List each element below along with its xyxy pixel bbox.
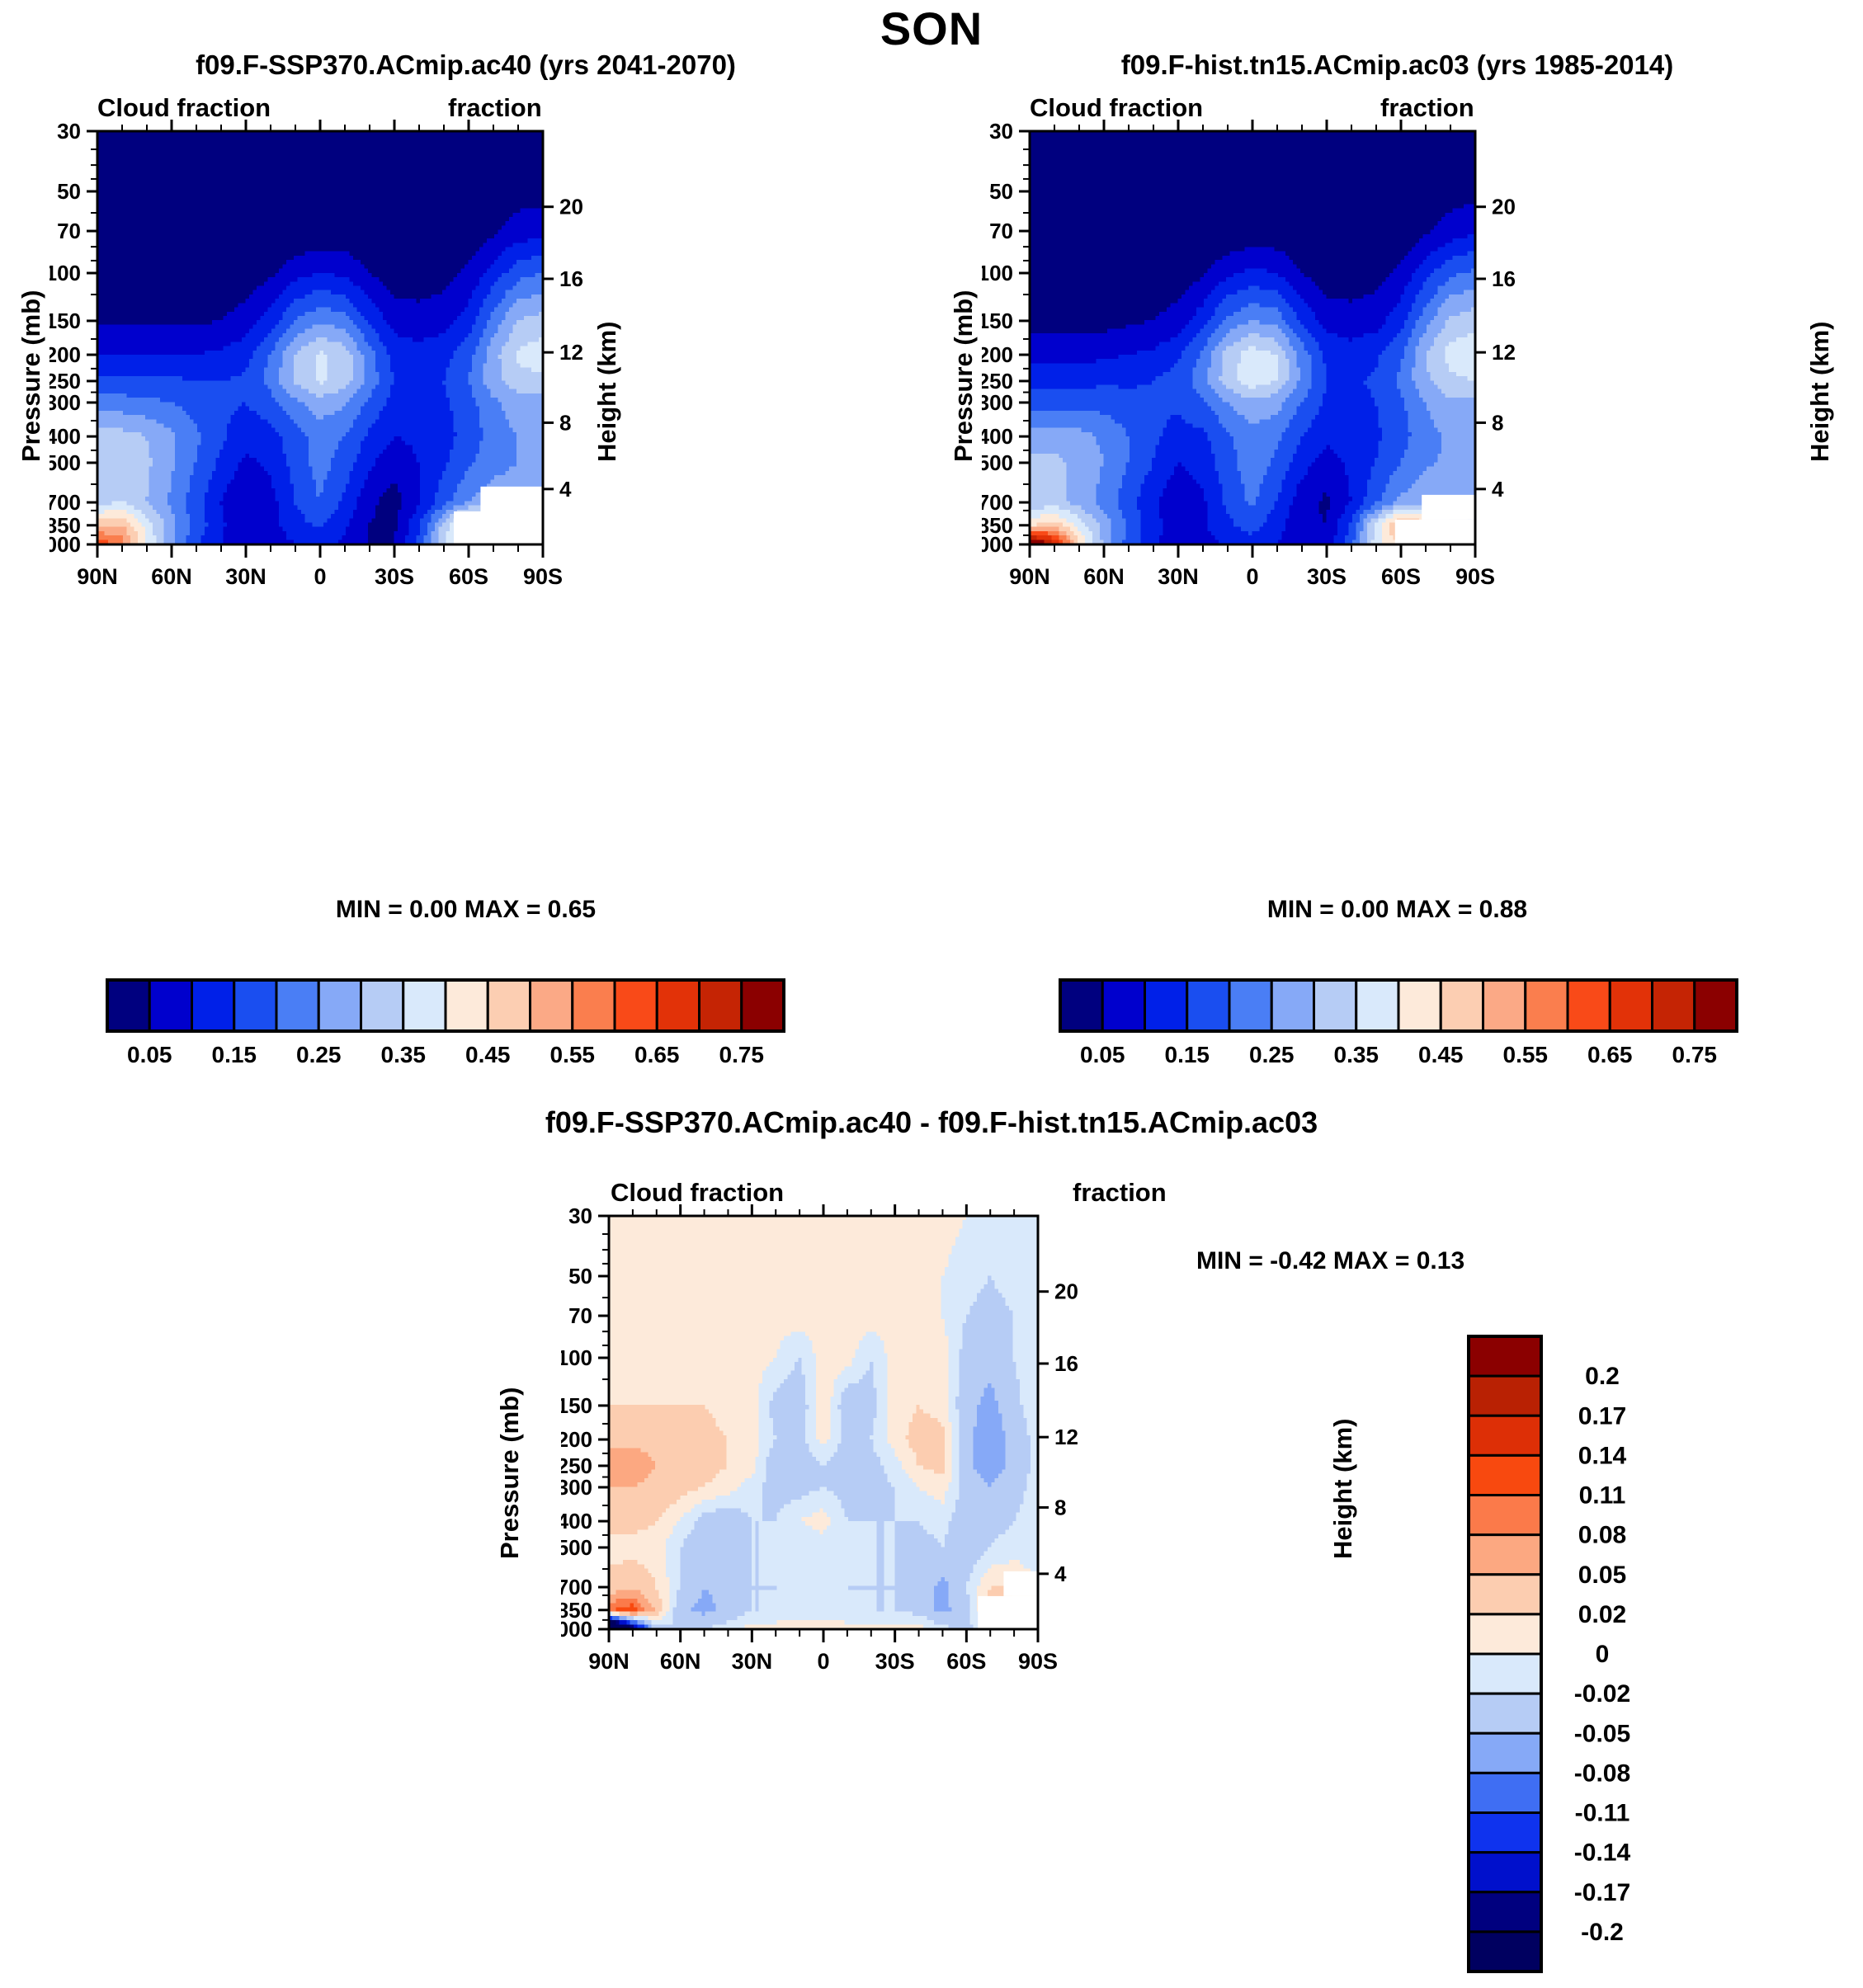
colorbar-cell[interactable] [107,980,149,1031]
colorbar-tick-label: 0.17 [1578,1402,1626,1430]
pressure-tick-label: 400 [561,1509,592,1533]
lat-tick-label: 0 [817,1649,829,1674]
colorbar-tick-label: -0.2 [1581,1919,1624,1946]
panel-left-ylabel: Pressure (mb) [17,290,46,462]
lat-tick-label: 30S [875,1649,915,1674]
panel-diff-title: f09.F-SSP370.ACmip.ac40 - f09.F-hist.tn1… [0,1105,1863,1140]
lat-tick-label: 90S [1455,564,1495,589]
colorbar-cell[interactable] [1187,980,1229,1031]
colorbar-cell[interactable] [1229,980,1271,1031]
panel-diff-plot: 3050701001502002503004005007008501000201… [561,1204,1089,1716]
height-tick-label: 20 [1492,195,1516,219]
pressure-tick-label: 70 [989,219,1013,243]
colorbar-cell[interactable] [1356,980,1398,1031]
lat-tick-label: 60N [660,1649,701,1674]
pressure-tick-label: 30 [989,120,1013,144]
panel-right-rlabel: Height (km) [1805,322,1835,463]
colorbar-cell[interactable] [1469,1614,1541,1654]
colorbar-cell[interactable] [700,980,742,1031]
pressure-tick-label: 100 [982,261,1013,285]
height-tick-label: 16 [559,266,583,291]
colorbar-tick-label: 0.35 [1334,1042,1380,1067]
colorbar-tick-label: 0.11 [1579,1482,1626,1510]
lat-tick-label: 0 [1246,564,1258,589]
colorbar-cell[interactable] [1271,980,1314,1031]
colorbar-tick-label: -0.14 [1574,1840,1631,1867]
colorbar-cell[interactable] [573,980,615,1031]
lat-tick-label: 90S [1018,1649,1058,1674]
panel-left-plot: 3050701001502002503004005007008501000201… [50,120,594,631]
colorbar-cell[interactable] [742,980,784,1031]
panel-diff-subtitle-left: Cloud fraction [611,1178,784,1208]
pressure-tick-label: 30 [57,120,81,144]
colorbar-tick-label: 0.25 [296,1042,342,1067]
panel-left-title: f09.F-SSP370.ACmip.ac40 (yrs 2041-2070) [0,49,931,81]
pressure-tick-label: 100 [50,261,81,285]
colorbar-tick-label: 0.35 [381,1042,427,1067]
pressure-tick-label: 150 [982,309,1013,333]
colorbar-tick-label: -0.17 [1574,1879,1630,1906]
colorbar-cell[interactable] [446,980,488,1031]
pressure-tick-label: 200 [982,342,1013,367]
colorbar-cell[interactable] [1469,1455,1541,1495]
colorbar-cell[interactable] [1469,1535,1541,1575]
height-tick-label: 8 [1492,410,1503,435]
colorbar-tick-label: 0.65 [1587,1042,1633,1067]
height-tick-label: 4 [1054,1562,1067,1586]
colorbar-tick-label: -0.08 [1574,1760,1630,1787]
lat-tick-label: 30N [225,564,266,589]
colorbar-tick-label: 0.75 [1672,1042,1718,1067]
colorbar-cell[interactable] [657,980,699,1031]
colorbar-cell[interactable] [615,980,657,1031]
panel-diff-ylabel: Pressure (mb) [495,1387,525,1559]
lat-tick-label: 90S [523,564,563,589]
height-tick-label: 4 [559,477,572,502]
colorbar-cell[interactable] [1695,980,1737,1031]
panel-left-minmax: MIN = 0.00 MAX = 0.65 [0,896,931,924]
colorbar-tick-label: 0.45 [465,1042,511,1067]
colorbar-cell[interactable] [149,980,191,1031]
lat-tick-label: 60N [151,564,192,589]
colorbar-cell[interactable] [1469,1892,1541,1932]
pressure-tick-label: 1000 [50,532,81,557]
panel-right-subtitle-right: fraction [1380,93,1474,123]
height-tick-label: 16 [1492,266,1516,291]
pressure-tick-label: 500 [50,450,81,475]
panel-right-colorbar[interactable]: 0.050.150.250.350.450.550.650.75 [1052,973,1745,1072]
colorbar-cell[interactable] [1469,1416,1541,1455]
colorbar-cell[interactable] [234,980,276,1031]
colorbar-cell[interactable] [531,980,573,1031]
pressure-tick-label: 70 [568,1303,592,1328]
colorbar-cell[interactable] [1469,1575,1541,1614]
pressure-tick-label: 50 [989,179,1013,204]
lat-tick-label: 30S [1307,564,1347,589]
lat-tick-label: 90N [1009,564,1050,589]
panel-right-ylabel: Pressure (mb) [949,290,979,462]
colorbar-cell[interactable] [1314,980,1356,1031]
panel-left-subtitle-right: fraction [448,93,542,123]
colorbar-tick-label: 0.65 [634,1042,680,1067]
lat-tick-label: 90N [77,564,118,589]
panel-diff-minmax: MIN = -0.42 MAX = 0.13 [1196,1247,1464,1275]
colorbar-cell[interactable] [276,980,318,1031]
colorbar-cell[interactable] [1469,1813,1541,1853]
lat-tick-label: 60S [1381,564,1421,589]
colorbar-tick-label: -0.02 [1574,1680,1630,1708]
colorbar-tick-label: 0.15 [212,1042,257,1067]
pressure-tick-label: 50 [57,179,81,204]
lat-tick-label: 30S [375,564,414,589]
colorbar-cell[interactable] [1102,980,1144,1031]
colorbar-cell[interactable] [1469,1694,1541,1733]
colorbar-cell[interactable] [1398,980,1441,1031]
panel-left-subtitle-left: Cloud fraction [97,93,271,123]
pressure-tick-label: 400 [50,424,81,449]
colorbar-tick-label: 0.2 [1585,1363,1620,1390]
colorbar-tick-label: 0.08 [1578,1522,1626,1549]
pressure-tick-label: 300 [50,390,81,415]
pressure-tick-label: 500 [982,450,1013,475]
pressure-tick-label: 300 [982,390,1013,415]
pressure-tick-label: 150 [50,309,81,333]
pressure-tick-label: 150 [561,1393,592,1418]
height-tick-label: 8 [559,410,571,435]
panel-right-plot: 3050701001502002503004005007008501000201… [982,120,1526,631]
colorbar-cell[interactable] [1610,980,1652,1031]
pressure-tick-label: 1000 [561,1617,592,1642]
panel-diff-subtitle-right: fraction [1073,1178,1167,1208]
pressure-tick-label: 200 [50,342,81,367]
lat-tick-label: 0 [314,564,326,589]
lat-tick-label: 90N [588,1649,630,1674]
colorbar-tick-label: 0.14 [1578,1442,1627,1469]
panel-left-rlabel: Height (km) [592,322,622,463]
panel-diff-colorbar[interactable]: 0.20.170.140.110.080.050.020-0.02-0.05-0… [1460,1328,1807,1988]
pressure-tick-label: 700 [982,490,1013,515]
colorbar-tick-label: -0.05 [1574,1720,1630,1747]
colorbar-cell[interactable] [1060,980,1102,1031]
colorbar-cell[interactable] [1441,980,1483,1031]
height-tick-label: 12 [1492,340,1516,365]
colorbar-tick-label: 0.45 [1418,1042,1464,1067]
colorbar-tick-label: 0 [1596,1641,1610,1668]
pressure-tick-label: 1000 [982,532,1013,557]
colorbar-tick-label: -0.11 [1575,1800,1630,1827]
colorbar-cell[interactable] [488,980,530,1031]
pressure-tick-label: 50 [568,1264,592,1288]
pressure-tick-label: 500 [561,1535,592,1560]
lat-tick-label: 60N [1083,564,1125,589]
colorbar-cell[interactable] [1568,980,1610,1031]
lat-tick-label: 30N [732,1649,773,1674]
height-tick-label: 16 [1054,1351,1078,1376]
colorbar-tick-label: 0.02 [1578,1601,1626,1628]
page-title: SON [0,2,1863,55]
colorbar-cell[interactable] [403,980,446,1031]
colorbar-tick-label: 0.05 [1080,1042,1125,1067]
panel-right-subtitle-left: Cloud fraction [1030,93,1203,123]
panel-right-title: f09.F-hist.tn15.ACmip.ac03 (yrs 1985-201… [931,49,1863,81]
colorbar-tick-label: 0.15 [1165,1042,1210,1067]
colorbar-cell[interactable] [1469,1733,1541,1773]
pressure-tick-label: 400 [982,424,1013,449]
height-tick-label: 20 [1054,1279,1078,1304]
colorbar-cell[interactable] [1469,1853,1541,1892]
height-tick-label: 12 [559,340,583,365]
colorbar-cell[interactable] [318,980,361,1031]
colorbar-tick-label: 0.05 [1578,1562,1626,1589]
colorbar-cell[interactable] [1469,1773,1541,1812]
lat-tick-label: 30N [1158,564,1199,589]
colorbar-cell[interactable] [1653,980,1695,1031]
colorbar-cell[interactable] [1469,1496,1541,1535]
height-tick-label: 4 [1492,477,1504,502]
pressure-tick-label: 30 [568,1204,592,1228]
colorbar-cell[interactable] [1469,1376,1541,1416]
colorbar-cell[interactable] [192,980,234,1031]
colorbar-tick-label: 0.55 [1503,1042,1549,1067]
pressure-tick-label: 300 [561,1475,592,1500]
colorbar-cell[interactable] [1145,980,1187,1031]
colorbar-cell[interactable] [1526,980,1568,1031]
colorbar-cell[interactable] [361,980,403,1031]
lat-tick-label: 60S [946,1649,986,1674]
height-tick-label: 12 [1054,1425,1078,1449]
colorbar-tick-label: 0.75 [719,1042,765,1067]
pressure-tick-label: 70 [57,219,81,243]
colorbar-cell[interactable] [1469,1654,1541,1694]
lat-tick-label: 60S [449,564,488,589]
panel-diff-rlabel: Height (km) [1328,1419,1358,1560]
height-tick-label: 20 [559,195,583,219]
pressure-tick-label: 700 [561,1575,592,1599]
colorbar-cell[interactable] [1469,1336,1541,1376]
pressure-tick-label: 700 [50,490,81,515]
colorbar-cell[interactable] [1469,1932,1541,1972]
pressure-tick-label: 100 [561,1345,592,1370]
colorbar-tick-label: 0.25 [1249,1042,1295,1067]
height-tick-label: 8 [1054,1495,1066,1519]
panel-left-colorbar[interactable]: 0.050.150.250.350.450.550.650.75 [99,973,792,1072]
colorbar-cell[interactable] [1483,980,1526,1031]
colorbar-tick-label: 0.55 [550,1042,596,1067]
panel-right-minmax: MIN = 0.00 MAX = 0.88 [931,896,1863,924]
colorbar-tick-label: 0.05 [127,1042,172,1067]
pressure-tick-label: 200 [561,1427,592,1452]
